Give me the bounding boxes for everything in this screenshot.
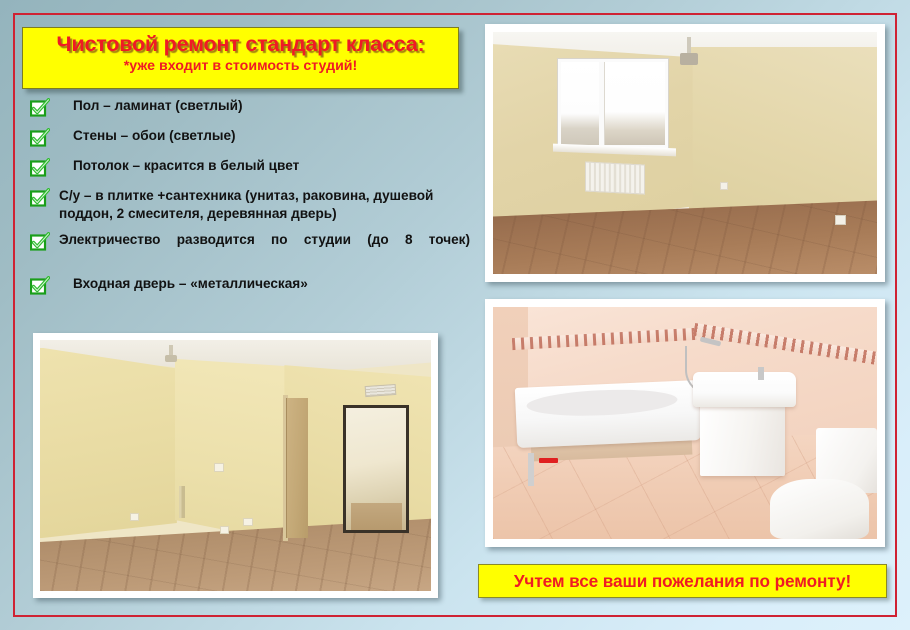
wall-socket [720, 182, 728, 190]
page-title: Чистовой ремонт стандарт класса: [23, 32, 458, 56]
wall-socket [835, 215, 847, 226]
sink-vanity-cabinet [700, 404, 784, 476]
checkbox-checked-icon [30, 158, 50, 178]
photo-studio [33, 333, 438, 598]
checkbox-checked-icon [30, 276, 50, 296]
heating-pipe [179, 486, 185, 519]
window-glass-left [561, 62, 598, 146]
list-item-label: Пол – ламинат (светлый) [73, 97, 470, 115]
basin-faucet [758, 367, 764, 380]
list-item: Потолок – красится в белый цвет [28, 157, 470, 179]
list-item-label: Электричество разводится по студии (до 8… [59, 231, 470, 267]
list-item-label: С/у – в плитке +сантехника (унитаз, рако… [59, 187, 470, 223]
window-glass-right [605, 62, 665, 146]
photo-room-window-image [493, 32, 877, 274]
wall-socket [130, 513, 139, 521]
window [558, 59, 667, 149]
wooden-door [286, 398, 308, 539]
checkbox-checked-icon [30, 128, 50, 148]
list-item-label: Входная дверь – «металлическая» [73, 275, 470, 293]
list-item: Пол – ламинат (светлый) [28, 97, 470, 119]
list-item: Стены – обои (светлые) [28, 127, 470, 149]
entry-doorway [343, 405, 409, 533]
bottom-callout-text: Учтем все ваши пожелания по ремонту! [514, 571, 851, 592]
list-item: С/у – в плитке +сантехника (унитаз, рако… [28, 187, 470, 223]
checkbox-checked-icon [30, 98, 50, 118]
wall-center [175, 359, 286, 542]
photo-bathroom-image [493, 307, 877, 539]
slide-canvas: Чистовой ремонт стандарт класса: *уже вх… [0, 0, 910, 630]
page-subtitle: *уже входит в стоимость студий! [23, 58, 458, 76]
list-item-label: Стены – обои (светлые) [73, 127, 470, 145]
water-pipe [528, 453, 535, 485]
checkbox-checked-icon [30, 232, 50, 252]
features-checklist: Пол – ламинат (светлый) Стены – обои (св… [28, 97, 470, 305]
wall-socket [243, 518, 252, 526]
list-item-label: Потолок – красится в белый цвет [73, 157, 470, 175]
wall-socket [214, 463, 224, 472]
title-banner: Чистовой ремонт стандарт класса: *уже вх… [22, 27, 459, 89]
wall-left [40, 348, 177, 539]
ventilation-grille [364, 384, 396, 397]
red-valve-handle [539, 458, 558, 464]
list-item: Электричество разводится по студии (до 8… [28, 231, 470, 267]
photo-studio-image [40, 340, 431, 591]
checkbox-checked-icon [30, 188, 50, 208]
photo-room-window [485, 24, 885, 282]
ceiling-lamp-wire [169, 345, 173, 358]
bathtub [515, 380, 702, 448]
list-item: Входная дверь – «металлическая» [28, 275, 470, 297]
wall-socket [220, 526, 229, 534]
bottom-callout-banner: Учтем все ваши пожелания по ремонту! [478, 564, 887, 598]
photo-bathroom [485, 299, 885, 547]
toilet-bowl [770, 479, 870, 539]
radiator [585, 161, 645, 194]
ceiling-lamp-wire [687, 37, 691, 56]
washbasin [693, 372, 797, 407]
